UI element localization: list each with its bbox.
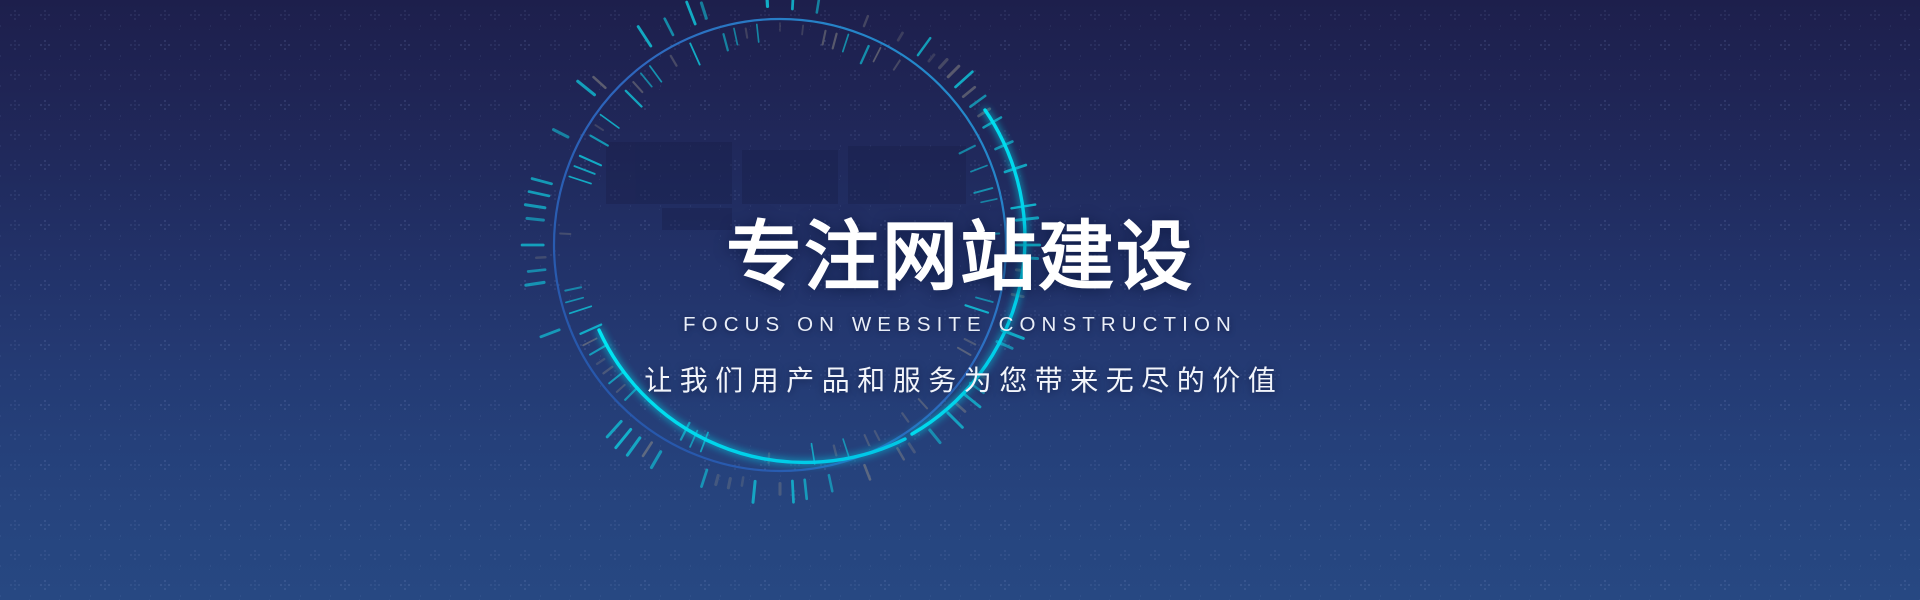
banner-text-block: 专注网站建设 FOCUS ON WEBSITE CONSTRUCTION 让我们…: [0, 0, 1920, 600]
page-title: 专注网站建设: [726, 217, 1194, 296]
hero-banner: 专注网站建设 FOCUS ON WEBSITE CONSTRUCTION 让我们…: [0, 0, 1920, 600]
banner-subtitle-english: FOCUS ON WEBSITE CONSTRUCTION: [683, 313, 1237, 337]
banner-tagline-chinese: 让我们用产品和服务为您带来无尽的价值: [637, 359, 1284, 399]
